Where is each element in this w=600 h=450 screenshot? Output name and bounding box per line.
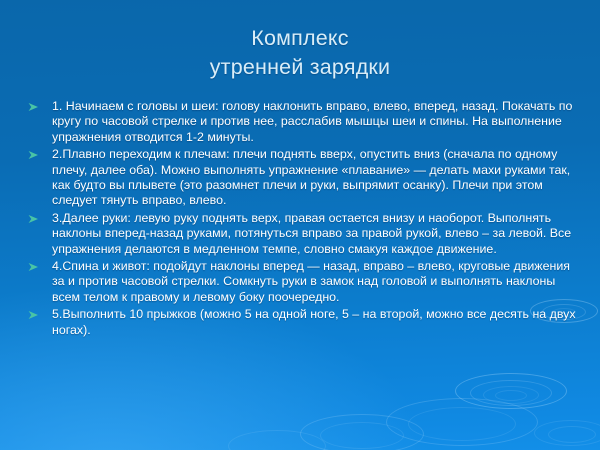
arrow-right-icon <box>28 147 52 160</box>
arrow-right-icon <box>28 211 52 224</box>
bullet-list: 1. Начинаем с головы и шеи: голову накло… <box>28 99 584 340</box>
list-item-text: 4.Спина и живот: подойдут наклоны вперед… <box>52 259 584 305</box>
list-item-text: 2.Плавно переходим к плечам: плечи подня… <box>52 147 584 209</box>
arrow-right-icon <box>28 307 52 320</box>
slide-title-line-1: Комплекс <box>0 24 600 53</box>
list-item: 1. Начинаем с головы и шеи: голову накло… <box>28 99 584 145</box>
list-item: 4.Спина и живот: подойдут наклоны вперед… <box>28 259 584 305</box>
slide-title-line-2: утренней зарядки <box>0 53 600 82</box>
arrow-right-icon <box>28 259 52 272</box>
list-item: 2.Плавно переходим к плечам: плечи подня… <box>28 147 584 209</box>
arrow-right-icon <box>28 99 52 112</box>
list-item: 3.Далее руки: левую руку поднять верх, п… <box>28 211 584 257</box>
list-item: 5.Выполнить 10 прыжков (можно 5 на одной… <box>28 307 584 338</box>
list-item-text: 5.Выполнить 10 прыжков (можно 5 на одной… <box>52 307 584 338</box>
slide-title: Комплекс утренней зарядки <box>0 24 600 82</box>
list-item-text: 3.Далее руки: левую руку поднять верх, п… <box>52 211 584 257</box>
list-item-text: 1. Начинаем с головы и шеи: голову накло… <box>52 99 584 145</box>
presentation-slide: Комплекс утренней зарядки 1. Начинаем с … <box>0 0 600 450</box>
